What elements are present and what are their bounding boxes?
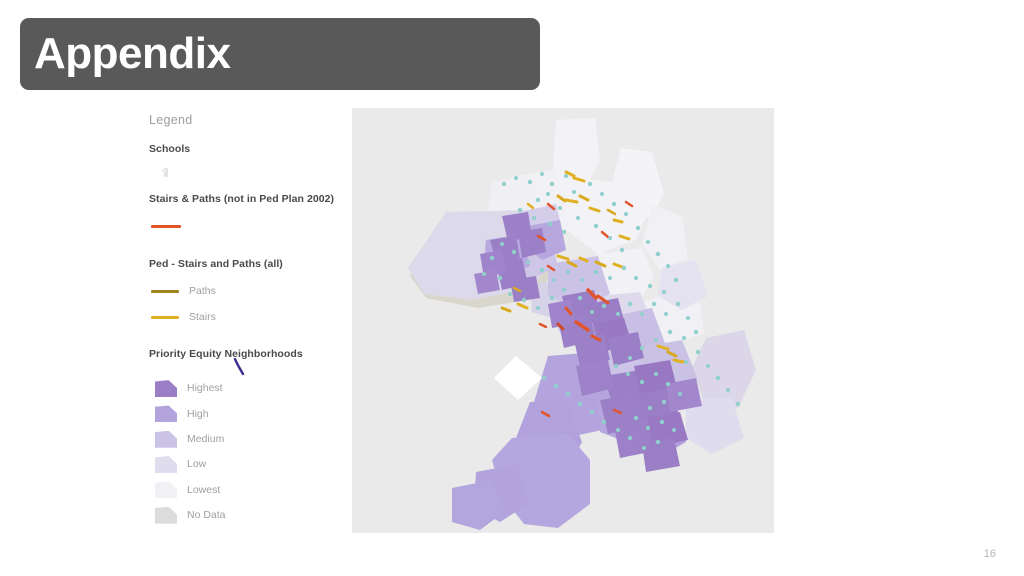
slide-title-banner: Appendix [20,18,540,90]
label-medium: Medium [187,434,224,445]
school-point-icon [161,166,179,180]
label-highest: Highest [187,383,223,394]
paths-line-swatch [151,290,179,293]
legend-item-high: High [149,401,226,426]
legend-group-schools-title: Schools [149,144,190,155]
label-high: High [187,409,209,420]
legend-group-not-in-ped-plan-title: Stairs & Paths (not in Ped Plan 2002) [149,194,334,205]
legend-item-paths: Paths [151,286,216,297]
legend-item-no-data: No Data [149,502,226,527]
label-low: Low [187,459,206,470]
legend-item-medium: Medium [149,427,226,452]
swatch-no-data [155,507,177,524]
swatch-high [155,405,177,422]
page-number: 16 [984,549,996,560]
label-lowest: Lowest [187,485,220,496]
pen-stroke-annotation [233,358,247,376]
map-container[interactable] [352,108,774,533]
stairs-label: Stairs [189,312,216,323]
legend-group-priority-equity-title: Priority Equity Neighborhoods [149,349,303,360]
map-water-diamond [494,356,542,400]
legend-heading: Legend [149,114,349,127]
stairs-line-swatch [151,316,179,319]
swatch-highest [155,380,177,397]
paths-label: Paths [189,286,216,297]
legend-item-lowest: Lowest [149,477,226,502]
legend-item-stairs: Stairs [151,312,216,323]
swatch-low [155,456,177,473]
page-title: Appendix [20,32,230,76]
legend-item-low: Low [149,452,226,477]
not-in-ped-plan-line-swatch [151,225,181,228]
map-graphic [352,108,774,533]
swatch-lowest [155,481,177,498]
map-legend: Legend Schools Stairs & Paths (not in Pe… [149,114,349,143]
priority-equity-legend-list: Highest High Medium Low Lowest No Data [149,376,226,528]
swatch-medium [155,431,177,448]
label-no-data: No Data [187,510,226,521]
legend-item-highest: Highest [149,376,226,401]
legend-group-ped-all-title: Ped - Stairs and Paths (all) [149,259,283,270]
